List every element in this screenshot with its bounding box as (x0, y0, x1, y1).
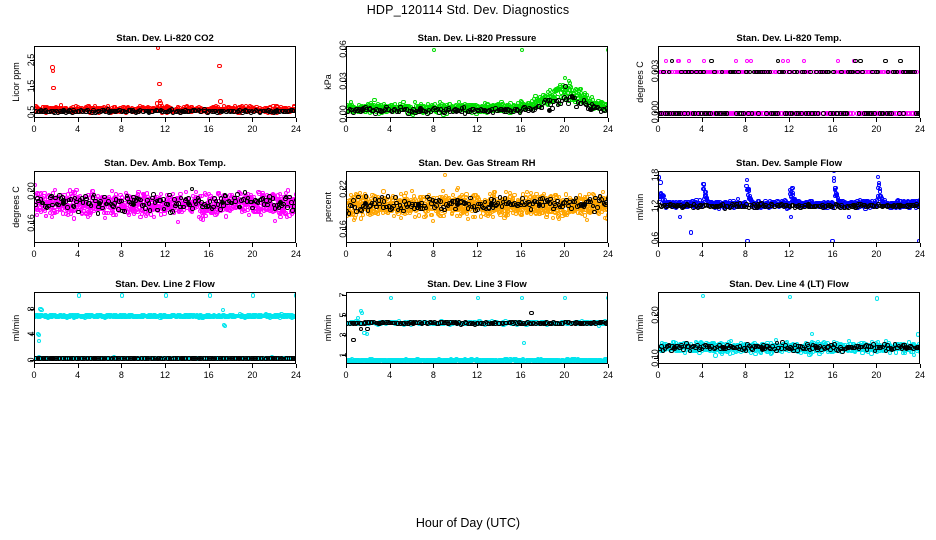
data-point (259, 213, 263, 217)
x-tick-mark (78, 118, 79, 122)
data-point (72, 204, 77, 209)
data-point (138, 198, 143, 203)
data-point (271, 196, 276, 201)
data-point (201, 217, 205, 221)
data-point (606, 48, 608, 52)
panel-title: Stan. Dev. Gas Stream RH (346, 158, 608, 169)
x-tick-label: 0 (31, 124, 36, 134)
data-point (790, 186, 794, 190)
data-point (734, 59, 738, 63)
data-point (708, 111, 713, 116)
panel-title: Stan. Dev. Amb. Box Temp. (34, 158, 296, 169)
y-tick-label: 0.22 (338, 181, 348, 199)
y-tick-label: 2.5 (26, 54, 36, 67)
data-point (224, 214, 228, 218)
data-point (122, 209, 127, 214)
data-point (61, 200, 66, 205)
data-point (802, 59, 806, 63)
x-tick-mark (477, 118, 478, 122)
data-point (265, 203, 270, 208)
data-point (832, 171, 836, 173)
plot-area (658, 46, 920, 118)
data-point (585, 218, 589, 222)
x-tick-mark (252, 118, 253, 122)
data-point (845, 111, 850, 116)
data-point (512, 193, 516, 197)
plot-area (346, 46, 608, 118)
data-point (366, 208, 371, 213)
data-point (219, 109, 224, 114)
data-point (351, 198, 356, 203)
x-tick-mark (346, 243, 347, 247)
data-point (741, 111, 746, 116)
data-point (749, 59, 753, 63)
data-point (588, 107, 593, 112)
panel-5: Stan. Dev. Gas Stream RH048121620240.160… (312, 158, 624, 278)
panel-2: Stan. Dev. Li-820 Pressure048121620240.0… (312, 33, 624, 153)
plot-area (658, 171, 920, 243)
x-tick-mark (433, 118, 434, 122)
data-point (218, 207, 223, 212)
data-point (441, 214, 445, 218)
y-tick-label: 0.16 (338, 220, 348, 238)
data-point (799, 111, 804, 116)
x-tick-label: 16 (516, 249, 526, 259)
data-point (359, 107, 364, 112)
data-point (912, 70, 917, 75)
data-point (552, 89, 556, 93)
data-point (604, 200, 608, 205)
x-tick-label: 4 (75, 124, 80, 134)
data-point (287, 195, 292, 200)
y-tick-label: 0.5 (26, 105, 36, 118)
data-point (443, 173, 447, 177)
x-tick-mark (296, 243, 297, 247)
data-point (34, 203, 38, 208)
data-point (112, 201, 117, 206)
x-tick-label: 16 (828, 124, 838, 134)
data-point (816, 111, 821, 116)
x-tick-label: 20 (871, 124, 881, 134)
data-point (152, 215, 156, 219)
data-point (157, 82, 161, 86)
x-tick-label: 0 (655, 124, 660, 134)
panel-3: Stan. Dev. Li-820 Temp.048121620240.0000… (624, 33, 936, 153)
x-tick-label: 20 (247, 249, 257, 259)
x-tick-label: 24 (291, 124, 301, 134)
data-point (670, 59, 675, 64)
data-point (566, 101, 571, 106)
data-point (156, 46, 160, 50)
data-point (454, 109, 459, 114)
x-tick-label: 4 (387, 124, 392, 134)
data-point (781, 59, 785, 63)
data-point (520, 48, 524, 52)
data-point (595, 205, 600, 210)
data-point (569, 85, 573, 89)
data-point (473, 215, 477, 219)
data-point (294, 198, 296, 203)
x-tick-mark (702, 118, 703, 122)
x-tick-label: 12 (784, 124, 794, 134)
data-point (569, 206, 574, 211)
data-point (147, 201, 152, 206)
data-point (450, 212, 454, 216)
data-point (606, 109, 608, 114)
data-point (359, 216, 363, 220)
x-tick-label: 16 (516, 124, 526, 134)
data-point (606, 213, 608, 217)
data-point (434, 203, 439, 208)
data-point (489, 201, 494, 206)
y-tick-label: 0.06 (338, 40, 348, 58)
data-point (831, 70, 836, 75)
data-point (438, 199, 443, 204)
panel-4: Stan. Dev. Amb. Box Temp.048121620240.16… (0, 158, 312, 278)
plot-area (34, 171, 296, 243)
data-point (786, 59, 790, 63)
data-point (872, 111, 877, 116)
data-point (233, 199, 238, 204)
data-point (119, 199, 124, 204)
data-point (898, 59, 903, 64)
data-point (103, 216, 107, 220)
data-point (278, 200, 283, 205)
x-tick-label: 12 (160, 124, 170, 134)
data-point (53, 188, 57, 192)
y-tick-label: 0.03 (338, 73, 348, 91)
data-point (475, 207, 480, 212)
panel-1: Stan. Dev. Li-820 CO2048121620240.51.52.… (0, 33, 312, 153)
data-point (776, 59, 781, 64)
data-point (802, 70, 807, 75)
x-tick-mark (564, 118, 565, 122)
data-point (424, 214, 428, 218)
data-point (381, 189, 385, 193)
x-tick-mark (789, 118, 790, 122)
data-point (186, 201, 191, 206)
data-point (563, 84, 568, 89)
data-point (220, 200, 225, 205)
x-tick-mark (165, 243, 166, 247)
data-point (709, 59, 714, 64)
plot-area (34, 46, 296, 118)
data-point (832, 179, 836, 183)
data-point (498, 195, 503, 200)
data-point (853, 59, 858, 64)
x-tick-label: 0 (343, 124, 348, 134)
data-point (833, 186, 837, 190)
data-point (764, 111, 769, 116)
figure-canvas: HDP_120114 Std. Dev. Diagnostics Stan. D… (0, 0, 936, 540)
x-tick-label: 24 (291, 249, 301, 259)
data-point (455, 202, 460, 207)
y-tick-label: 0.00 (338, 105, 348, 123)
x-tick-mark (920, 118, 921, 122)
figure-title: HDP_120114 Std. Dev. Diagnostics (0, 3, 936, 17)
data-point (158, 101, 162, 105)
panel-title: Stan. Dev. Li-820 Pressure (346, 33, 608, 44)
panel-title: Stan. Dev. Sample Flow (658, 158, 920, 169)
x-tick-mark (121, 243, 122, 247)
data-point (347, 211, 352, 216)
x-tick-label: 8 (119, 249, 124, 259)
x-tick-mark (165, 118, 166, 122)
data-point (159, 192, 163, 196)
data-point (218, 99, 222, 103)
data-point (203, 214, 207, 218)
x-tick-label: 24 (603, 249, 613, 259)
data-point (44, 214, 48, 218)
data-point (51, 86, 55, 90)
data-point (551, 216, 555, 220)
data-point (418, 107, 423, 112)
panel-title: Stan. Dev. Li-820 CO2 (34, 33, 296, 44)
y-tick-label: 0.003 (650, 60, 660, 83)
data-point (295, 204, 296, 208)
data-point (493, 190, 497, 194)
data-point (100, 206, 105, 211)
x-tick-label: 16 (204, 249, 214, 259)
y-tick-label: 0.20 (26, 182, 36, 200)
data-point (184, 190, 188, 194)
y-axis-label: degrees C (635, 61, 645, 103)
data-point (404, 191, 408, 195)
data-point (364, 194, 369, 199)
data-point (278, 215, 282, 219)
data-point (605, 216, 608, 220)
data-point (548, 88, 552, 92)
data-point (393, 195, 398, 200)
data-point (491, 215, 495, 219)
x-tick-label: 24 (603, 124, 613, 134)
x-tick-mark (521, 243, 522, 247)
x-tick-mark (34, 243, 35, 247)
data-point (520, 196, 525, 201)
x-tick-label: 20 (559, 249, 569, 259)
x-tick-label: 12 (160, 249, 170, 259)
x-tick-mark (209, 243, 210, 247)
x-tick-mark (521, 118, 522, 122)
x-tick-mark (608, 243, 609, 247)
data-point (855, 70, 860, 75)
data-point (547, 108, 552, 113)
data-point (540, 105, 545, 110)
x-tick-label: 8 (431, 124, 436, 134)
data-point (607, 208, 608, 212)
data-point (821, 111, 826, 116)
data-point (836, 59, 840, 63)
data-point (919, 70, 920, 74)
data-point (432, 48, 436, 52)
x-tick-label: 24 (915, 124, 925, 134)
x-tick-label: 20 (247, 124, 257, 134)
data-point (247, 213, 251, 217)
data-point (194, 190, 198, 194)
data-point (273, 109, 278, 114)
x-tick-label: 8 (743, 124, 748, 134)
x-tick-mark (390, 243, 391, 247)
x-tick-mark (390, 118, 391, 122)
data-point (167, 193, 172, 198)
data-point (583, 213, 587, 217)
x-tick-mark (876, 118, 877, 122)
data-point (702, 182, 706, 186)
y-axis-label: degrees C (11, 186, 21, 228)
data-point (465, 212, 469, 216)
data-point (712, 70, 717, 75)
data-point (661, 70, 666, 75)
data-point (186, 196, 191, 201)
x-tick-mark (477, 243, 478, 247)
data-point (664, 59, 668, 63)
panel-title: Stan. Dev. Li-820 Temp. (658, 33, 920, 44)
data-point (294, 109, 296, 114)
data-point (466, 217, 470, 221)
data-point (851, 111, 855, 115)
data-point (687, 59, 691, 63)
data-point (181, 205, 186, 210)
data-point (56, 203, 61, 208)
plot-area (346, 171, 608, 243)
x-tick-label: 0 (31, 249, 36, 259)
x-tick-label: 4 (699, 124, 704, 134)
y-tick-label: 0.16 (26, 214, 36, 232)
data-point (592, 210, 597, 215)
x-tick-mark (296, 118, 297, 122)
data-point (606, 196, 608, 201)
data-point (456, 186, 460, 190)
data-point (756, 111, 761, 116)
data-point (808, 70, 813, 75)
data-point (114, 213, 118, 217)
data-point (74, 188, 78, 192)
data-point (889, 111, 894, 116)
data-point (376, 212, 380, 216)
data-point (399, 216, 403, 220)
y-axis-label: Licor ppm (11, 62, 21, 102)
data-point (382, 199, 387, 204)
data-point (775, 111, 780, 116)
data-point (155, 101, 159, 105)
data-point (65, 205, 70, 210)
data-point (89, 203, 94, 208)
x-tick-label: 4 (387, 249, 392, 259)
data-point (190, 206, 195, 211)
data-point (166, 202, 171, 207)
data-point (176, 220, 180, 224)
data-point (361, 213, 365, 217)
x-tick-mark (745, 118, 746, 122)
data-point (170, 209, 175, 214)
data-point (235, 192, 240, 197)
data-point (857, 111, 862, 116)
data-point (441, 189, 445, 193)
data-point (50, 215, 54, 219)
data-point (410, 189, 414, 193)
x-tick-label: 16 (204, 124, 214, 134)
data-point (520, 100, 524, 104)
data-point (273, 219, 277, 223)
x-tick-mark (252, 243, 253, 247)
y-tick-label: 1.5 (26, 80, 36, 93)
data-point (442, 208, 447, 213)
x-tick-mark (34, 118, 35, 122)
data-point (677, 59, 681, 63)
data-point (736, 70, 741, 75)
y-tick-label: 0.000 (650, 101, 660, 124)
data-point (745, 178, 749, 182)
data-point (701, 70, 706, 75)
x-tick-label: 8 (119, 124, 124, 134)
x-tick-label: 0 (343, 249, 348, 259)
x-tick-mark (564, 243, 565, 247)
x-tick-label: 12 (472, 249, 482, 259)
data-point (417, 213, 421, 217)
data-point (61, 108, 66, 113)
data-point (416, 203, 421, 208)
panel-6: Stan. Dev. Sample Flow048121620240.61.21… (624, 158, 936, 278)
data-point (286, 188, 290, 192)
data-point (883, 59, 888, 64)
data-point (431, 219, 435, 223)
data-point (243, 190, 248, 195)
data-point (401, 209, 406, 214)
data-point (901, 111, 906, 116)
data-point (292, 204, 296, 209)
data-point (747, 189, 751, 193)
data-point (294, 192, 296, 196)
data-point (839, 70, 844, 75)
x-tick-mark (209, 118, 210, 122)
data-point (72, 216, 76, 220)
x-tick-mark (121, 118, 122, 122)
y-axis-label: percent (323, 192, 333, 222)
x-tick-label: 20 (559, 124, 569, 134)
data-point (750, 111, 755, 116)
data-point (430, 213, 434, 217)
x-tick-mark (78, 243, 79, 247)
x-tick-label: 4 (75, 249, 80, 259)
data-point (918, 111, 920, 116)
x-tick-mark (833, 118, 834, 122)
x-tick-mark (433, 243, 434, 247)
data-point (529, 207, 534, 212)
x-tick-label: 12 (472, 124, 482, 134)
data-point (190, 210, 194, 214)
data-point (858, 59, 863, 64)
data-point (702, 59, 706, 63)
y-axis-label: kPa (323, 74, 333, 90)
data-point (579, 87, 583, 91)
data-point (51, 69, 55, 73)
data-point (96, 211, 101, 216)
x-tick-mark (608, 118, 609, 122)
x-tick-label: 8 (431, 249, 436, 259)
data-point (217, 64, 221, 68)
data-point (860, 70, 865, 75)
